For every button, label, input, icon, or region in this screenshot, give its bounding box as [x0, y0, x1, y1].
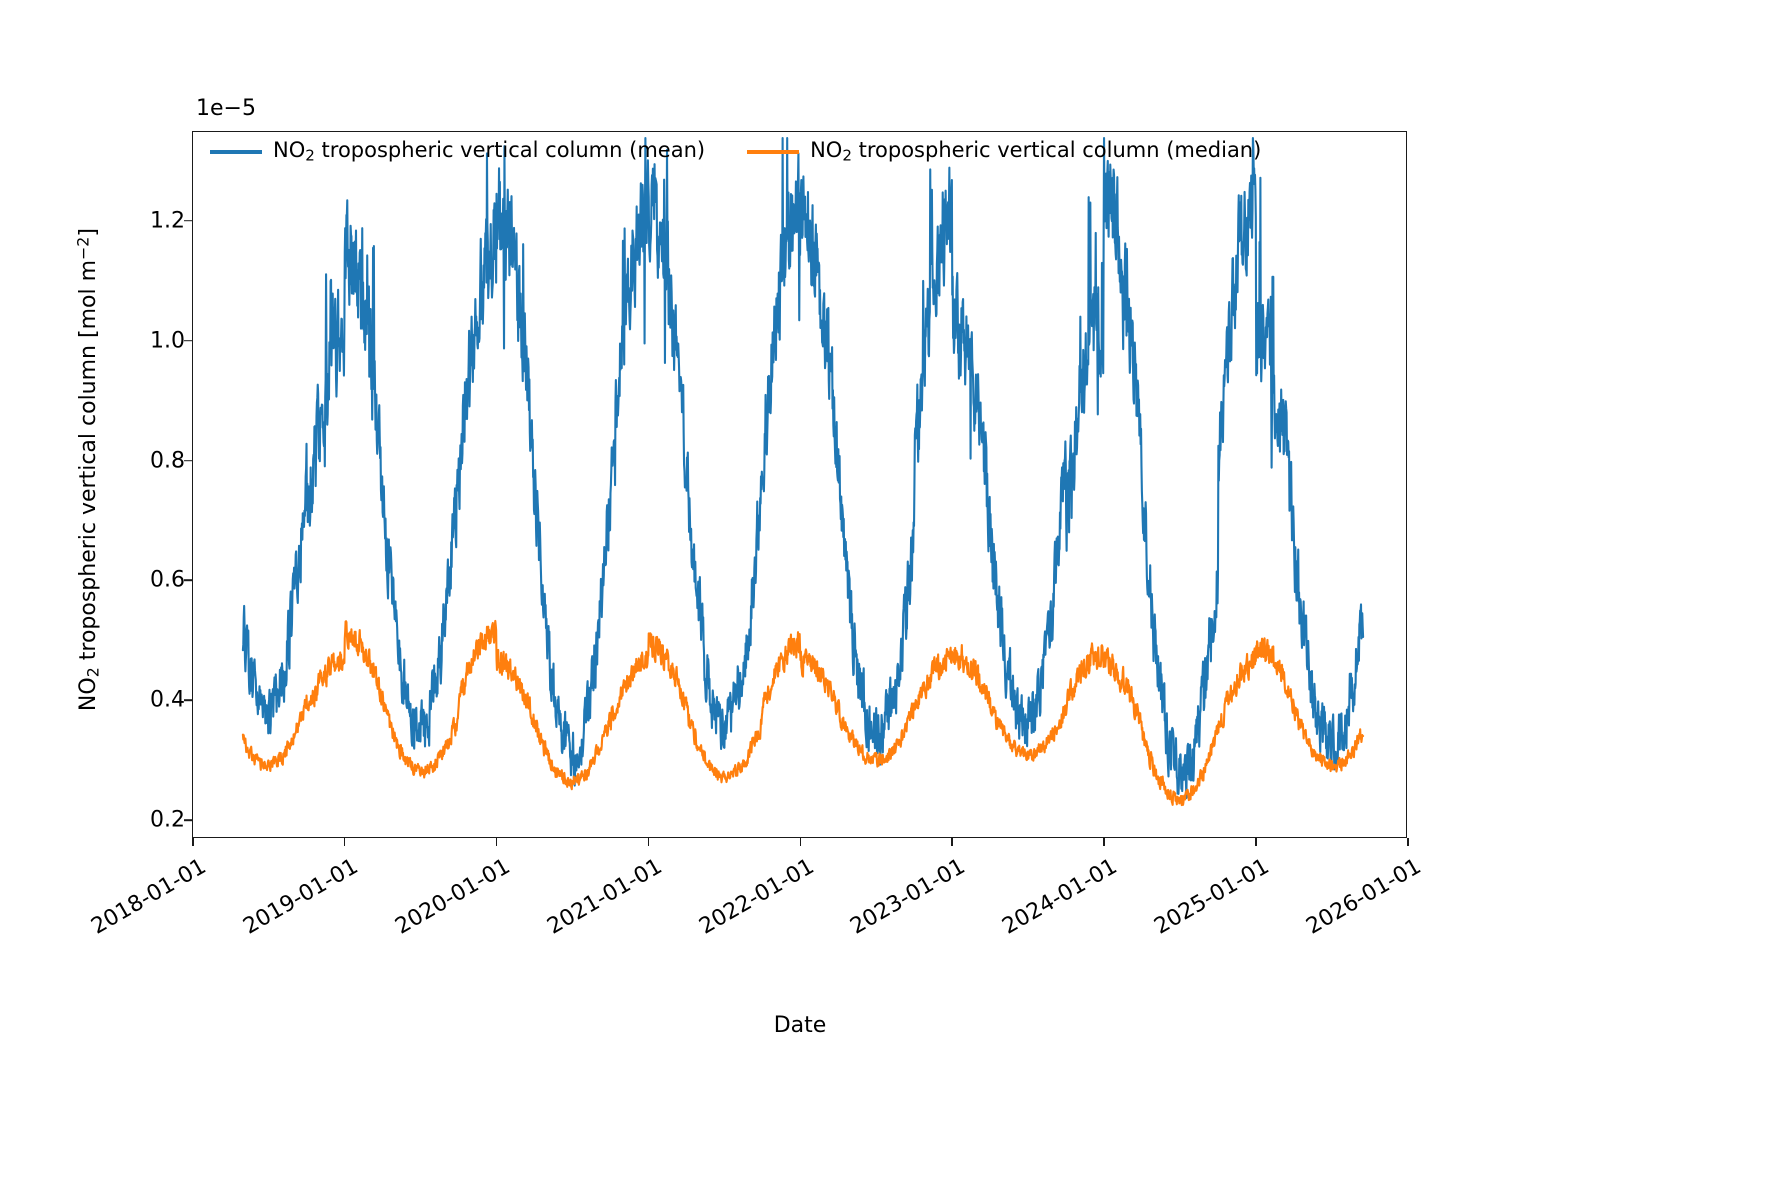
x-tick-label: 2020-01-01: [373, 854, 514, 950]
x-axis-label: Date: [0, 1013, 1600, 1038]
y-tick-mark: [184, 220, 192, 222]
plot-axes-area[interactable]: NO2 tropospheric vertical column (mean) …: [192, 131, 1407, 838]
y-axis-label: NO2 tropospheric vertical column [mol m−…: [73, 150, 102, 790]
series-canvas: [193, 132, 1407, 838]
x-tick-label: 2025-01-01: [1133, 854, 1274, 950]
y-axis-offset-text: 1e−5: [196, 96, 256, 121]
y-tick-mark: [184, 460, 192, 462]
y-tick-mark: [184, 699, 192, 701]
x-tick-label: 2023-01-01: [829, 854, 970, 950]
legend-swatch-median: [747, 150, 799, 154]
x-tick-mark: [1255, 838, 1257, 846]
y-tick-label: 1.0: [115, 328, 185, 353]
x-tick-mark: [1407, 838, 1409, 846]
legend-label-mean: NO2 tropospheric vertical column (mean): [273, 140, 705, 163]
x-tick-mark: [800, 838, 802, 846]
x-tick-label: 2019-01-01: [222, 854, 363, 950]
x-tick-label: 2026-01-01: [1285, 854, 1426, 950]
x-tick-mark: [344, 838, 346, 846]
y-tick-mark: [184, 580, 192, 582]
x-tick-label: 2021-01-01: [526, 854, 667, 950]
legend-swatch-mean: [210, 150, 262, 154]
x-tick-label: 2018-01-01: [70, 854, 211, 950]
y-tick-label: 0.4: [115, 688, 185, 713]
x-tick-mark: [496, 838, 498, 846]
y-tick-mark: [184, 340, 192, 342]
matplotlib-figure: 1e−5 NO2 tropospheric vertical column [m…: [0, 0, 1771, 1181]
legend[interactable]: NO2 tropospheric vertical column (mean) …: [210, 140, 1261, 163]
y-tick-label: 0.8: [115, 448, 185, 473]
x-tick-mark: [648, 838, 650, 846]
y-tick-label: 0.2: [115, 808, 185, 833]
x-tick-mark: [951, 838, 953, 846]
y-tick-mark: [184, 819, 192, 821]
legend-label-median: NO2 tropospheric vertical column (median…: [810, 140, 1261, 163]
x-tick-label: 2022-01-01: [677, 854, 818, 950]
line-series-mean: [243, 138, 1363, 798]
x-tick-label: 2024-01-01: [981, 854, 1122, 950]
legend-entry-mean[interactable]: NO2 tropospheric vertical column (mean): [210, 140, 705, 163]
x-tick-mark: [192, 838, 194, 846]
y-tick-label: 1.2: [115, 208, 185, 233]
x-tick-mark: [1103, 838, 1105, 846]
y-tick-label: 0.6: [115, 568, 185, 593]
legend-entry-median[interactable]: NO2 tropospheric vertical column (median…: [747, 140, 1261, 163]
